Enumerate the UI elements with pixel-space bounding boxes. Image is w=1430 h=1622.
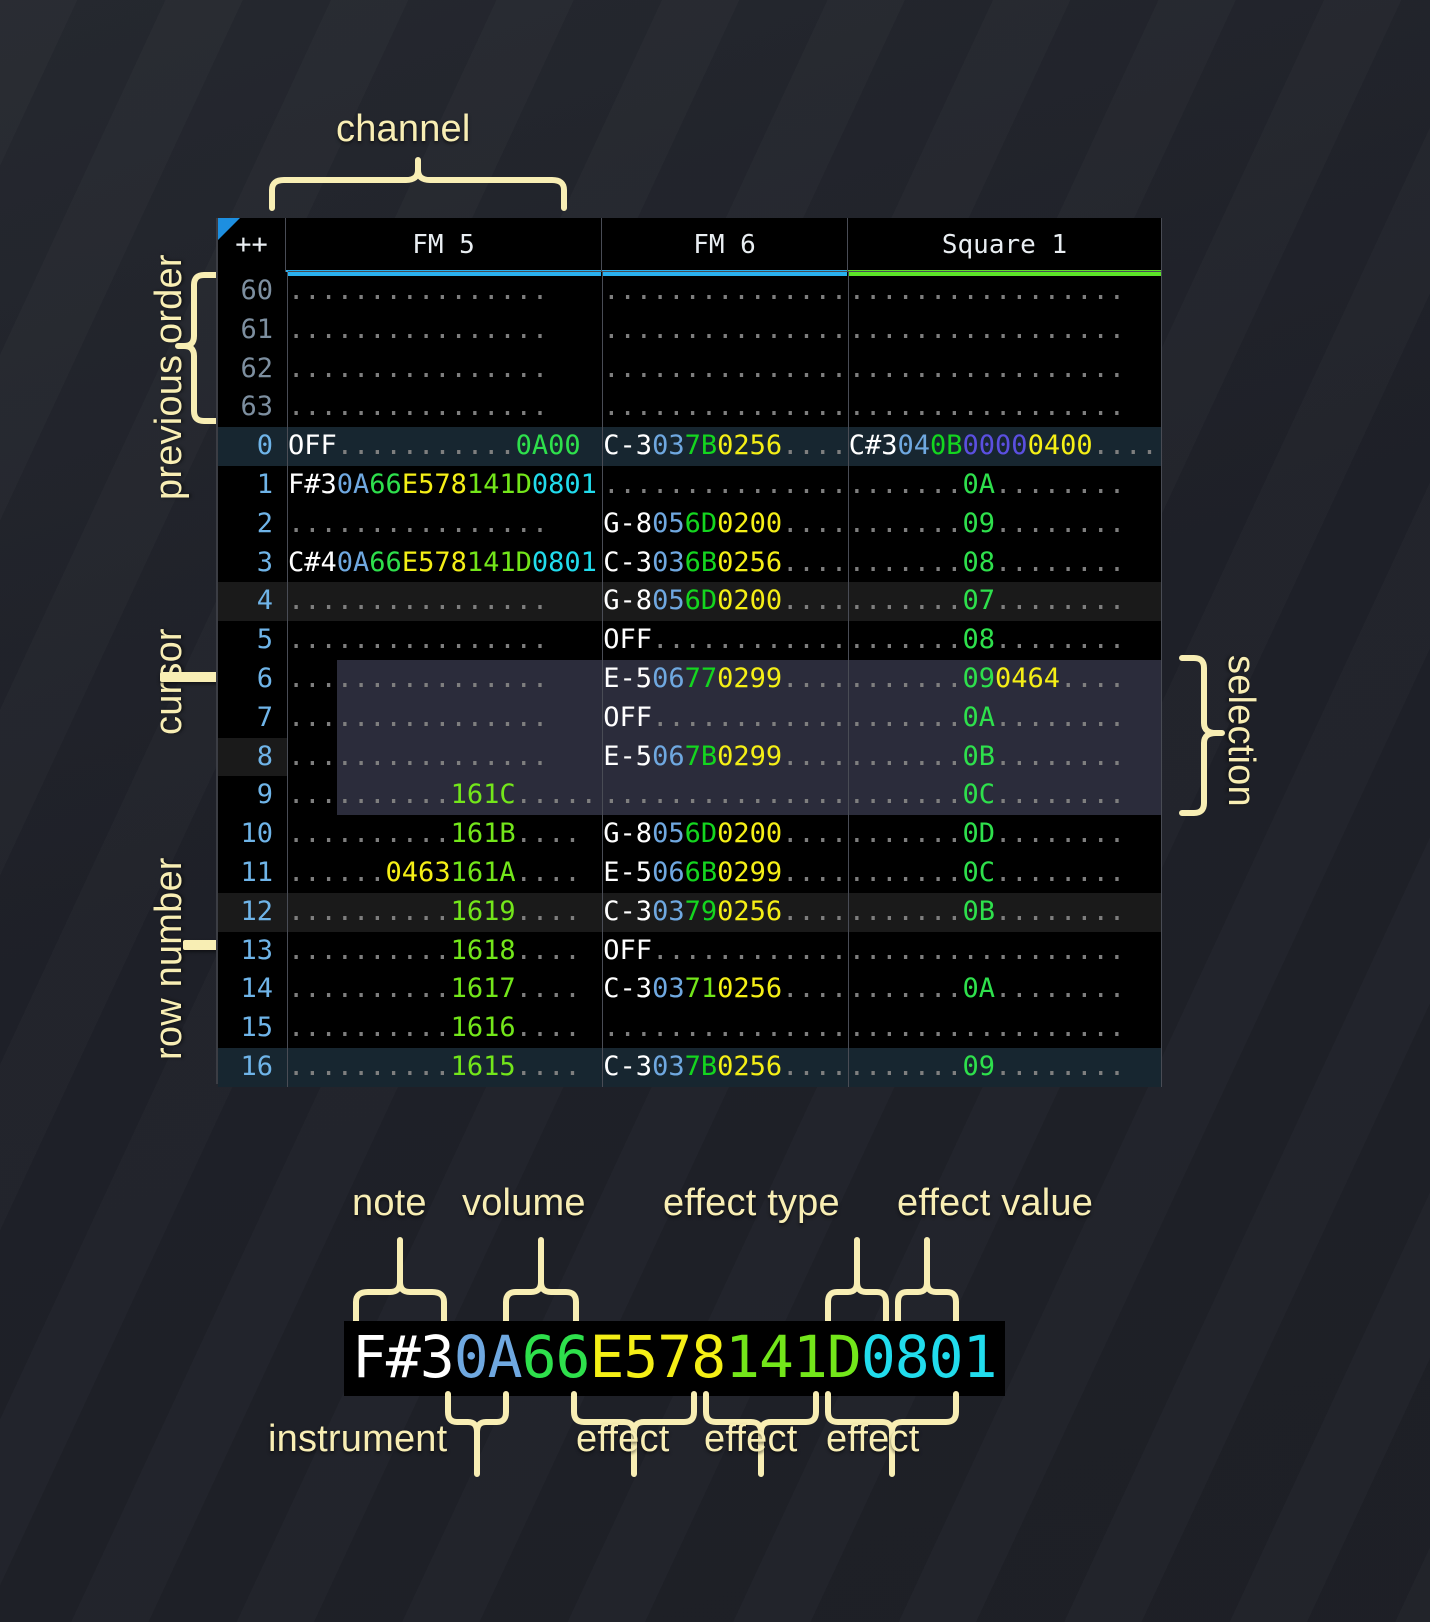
cell-segment: ........	[995, 779, 1125, 810]
cell-segment: 03	[652, 896, 685, 927]
annotation-effect-value: effect value	[897, 1182, 1093, 1225]
cell-segment: ....	[782, 896, 847, 927]
cell-segment: 1617	[451, 973, 516, 1004]
cell-segment: ........	[995, 624, 1125, 655]
pattern-cell[interactable]: .......090464....	[849, 660, 1162, 699]
pattern-cell[interactable]: G-8056D0200....	[603, 505, 848, 544]
cell-segment: 09	[963, 508, 996, 539]
cell-segment: 06	[652, 663, 685, 694]
cell-segment: .......	[849, 702, 963, 733]
order-marker-icon	[218, 218, 240, 240]
cell-segment: ....	[516, 935, 581, 966]
pattern-row[interactable]: 8................E-5067B0299...........0…	[218, 738, 1162, 777]
pattern-cell[interactable]: .......0B........	[849, 738, 1162, 777]
cell-segment: 1619	[451, 896, 516, 927]
pattern-cell[interactable]: OFF...........0A00	[288, 427, 603, 466]
pattern-cell[interactable]: F#30A66E578141D0801	[288, 466, 603, 505]
cell-segment: C-3	[603, 547, 652, 578]
pattern-cell[interactable]: ................	[288, 582, 603, 621]
cell-segment: E-5	[603, 857, 652, 888]
pattern-cell[interactable]: .......07........	[849, 582, 1162, 621]
cell-segment: 0256	[717, 973, 782, 1004]
cell-segment: 08	[963, 547, 996, 578]
cell-segment: .......	[849, 779, 963, 810]
pattern-header: ++ FM 5FM 6Square 1	[218, 218, 1162, 272]
cell-segment: .......	[849, 585, 963, 616]
cell-segment: ................	[288, 585, 548, 616]
pattern-cell[interactable]: .................	[849, 311, 1162, 350]
pattern-row[interactable]: 2................G-8056D0200...........0…	[218, 505, 1162, 544]
cell-segment: ..........	[288, 896, 451, 927]
cell-segment: 0B	[930, 430, 963, 461]
cell-segment: ....	[516, 896, 581, 927]
pattern-cell[interactable]: C-3037B0256....	[603, 1048, 848, 1087]
cell-segment: ................	[603, 314, 848, 345]
cell-segment: C#3	[849, 430, 898, 461]
cell-segment: .................	[849, 353, 1125, 384]
row-number: 13	[218, 932, 288, 971]
pattern-cell[interactable]: C-303710256....	[603, 970, 848, 1009]
cell-segment: .......	[849, 469, 963, 500]
row-number: 9	[218, 776, 288, 815]
cell-segment: 6B	[685, 857, 718, 888]
cell-segment: ........	[995, 973, 1125, 1004]
brace-volume	[502, 1240, 580, 1324]
annotation-effect-2: effect	[704, 1418, 797, 1461]
row-number: 12	[218, 893, 288, 932]
cell-segment: ................	[603, 275, 848, 306]
pattern-row[interactable]: 60......................................…	[218, 272, 1162, 311]
cell-segment: 0801	[532, 469, 597, 500]
cell-segment: .................	[849, 391, 1125, 422]
cell-segment: ........	[995, 508, 1125, 539]
cell-segment: 0C	[963, 857, 996, 888]
cell-segment: 03	[652, 1051, 685, 1082]
pattern-row[interactable]: 5................OFF....................…	[218, 621, 1162, 660]
cell-segment: 66	[369, 547, 402, 578]
pattern-cell[interactable]: .................	[849, 272, 1162, 311]
cell-segment: G-8	[603, 508, 652, 539]
cell-segment: 1618	[451, 935, 516, 966]
row-number: 14	[218, 970, 288, 1009]
cell-segment: ........	[995, 547, 1125, 578]
pattern-row[interactable]: 16..........1615....C-3037B0256.........…	[218, 1048, 1162, 1087]
pattern-cell[interactable]: OFF.............	[603, 699, 848, 738]
cell-segment: OFF	[603, 702, 652, 733]
pattern-cell[interactable]: .................	[849, 932, 1162, 971]
cell-segment: 0000	[963, 430, 1028, 461]
cell-segment: .................	[849, 275, 1125, 306]
cell-segment: ....	[782, 547, 847, 578]
row-number: 63	[218, 388, 288, 427]
cell-segment: ....	[782, 973, 847, 1004]
row-number: 5	[218, 621, 288, 660]
pattern-cell[interactable]: E-506770299....	[603, 660, 848, 699]
legend-segment: F#3	[352, 1323, 454, 1391]
row-number: 1	[218, 466, 288, 505]
annotation-volume: volume	[462, 1182, 586, 1225]
row-number: 4	[218, 582, 288, 621]
cell-segment: OFF	[288, 430, 337, 461]
cell-segment: 6B	[685, 547, 718, 578]
cell-segment: 06	[652, 741, 685, 772]
legend-segment: 0A	[454, 1323, 522, 1391]
pattern-row[interactable]: 62......................................…	[218, 350, 1162, 389]
row-number: 0	[218, 427, 288, 466]
pattern-cell[interactable]: ................	[603, 776, 848, 815]
row-number: 8	[218, 738, 288, 777]
pattern-cell[interactable]: .......09........	[849, 1048, 1162, 1087]
pattern-row[interactable]: 13..........1618....OFF.................…	[218, 932, 1162, 971]
pattern-row[interactable]: 6................E-506770299...........0…	[218, 660, 1162, 699]
row-number: 11	[218, 854, 288, 893]
pattern-editor[interactable]: ++ FM 5FM 6Square 1 60..................…	[216, 218, 1162, 1084]
cell-segment: 6D	[685, 818, 718, 849]
pattern-cell[interactable]: ................	[288, 272, 603, 311]
pattern-cell[interactable]: ................	[288, 388, 603, 427]
cell-segment: OFF	[603, 935, 652, 966]
cell-segment: 0A	[337, 547, 370, 578]
cell-segment: 0D	[963, 818, 996, 849]
cell-segment: 0299	[717, 663, 782, 694]
pattern-cell[interactable]: ..........1619....	[288, 893, 603, 932]
pattern-cell[interactable]: ................	[603, 311, 848, 350]
cell-segment: 09	[963, 663, 996, 694]
cell-segment: 0256	[717, 547, 782, 578]
cell-segment: OFF	[603, 624, 652, 655]
cell-segment: 6D	[685, 508, 718, 539]
pattern-row[interactable]: 63......................................…	[218, 388, 1162, 427]
brace-note	[352, 1240, 448, 1324]
pattern-cell[interactable]: ..........161C.....	[288, 776, 603, 815]
pattern-row[interactable]: 7................OFF....................…	[218, 699, 1162, 738]
cell-segment: C-3	[603, 430, 652, 461]
cell-segment: 7B	[685, 430, 718, 461]
cell-segment: 0B	[963, 741, 996, 772]
pattern-cell[interactable]: .......09........	[849, 505, 1162, 544]
cell-segment: ....	[782, 430, 847, 461]
channel-header-2[interactable]: FM 6	[602, 218, 848, 272]
cell-segment: ........	[995, 741, 1125, 772]
row-number: 60	[218, 272, 288, 311]
pattern-cell[interactable]: OFF.............	[603, 621, 848, 660]
cell-segment: ...........	[337, 430, 516, 461]
legend-segment: E578	[589, 1323, 725, 1391]
pattern-row[interactable]: 11......0463161A....E-5066B0299.........…	[218, 854, 1162, 893]
cell-segment: .............	[652, 702, 849, 733]
cell-segment: E-5	[603, 741, 652, 772]
cell-segment: 161B	[451, 818, 516, 849]
cell-segment: .......	[288, 779, 402, 810]
pattern-cell[interactable]: .................	[849, 1009, 1162, 1048]
annotation-instrument: instrument	[268, 1418, 447, 1461]
cell-segment: 141D	[467, 469, 532, 500]
cell-segment: 0C	[963, 779, 996, 810]
cell-segment: ................	[603, 779, 848, 810]
pattern-cell[interactable]: .......0A........	[849, 699, 1162, 738]
cell-segment: 05	[652, 818, 685, 849]
cell-segment: .................	[849, 1012, 1125, 1043]
pattern-cell[interactable]: ................	[288, 621, 603, 660]
cell-segment: 1616	[451, 1012, 516, 1043]
row-number: 6	[218, 660, 288, 699]
cell-segment: ....	[516, 857, 581, 888]
pattern-cell[interactable]: .......0B........	[849, 893, 1162, 932]
pattern-cell[interactable]: .......0C........	[849, 854, 1162, 893]
pattern-cell[interactable]: ................	[288, 350, 603, 389]
cell-segment: 0400	[1028, 430, 1093, 461]
channel-header-3[interactable]: Square 1	[848, 218, 1162, 272]
cell-segment: .......	[849, 741, 963, 772]
cell-segment: ........	[995, 818, 1125, 849]
cell-segment: 0A	[963, 469, 996, 500]
cell-segment: 03	[652, 430, 685, 461]
annotation-row-number: row number	[148, 857, 191, 1060]
pattern-row[interactable]: 12..........1619....C-303790256.........…	[218, 893, 1162, 932]
cell-segment: .............	[652, 624, 849, 655]
annotation-effect-type: effect type	[663, 1182, 840, 1225]
pattern-cell[interactable]: C#40A66E578141D0801	[288, 544, 603, 583]
cell-segment: ....	[782, 1051, 847, 1082]
pattern-cell[interactable]: E-5067B0299....	[603, 738, 848, 777]
pattern-row[interactable]: 1F#30A66E578141D0801....................…	[218, 466, 1162, 505]
cell-segment: 7B	[685, 1051, 718, 1082]
cell-segment: .................	[849, 314, 1125, 345]
pattern-cell[interactable]: C-3036B0256....	[603, 544, 848, 583]
cell-segment: 0A	[963, 702, 996, 733]
pattern-cell[interactable]: ..........1616....	[288, 1009, 603, 1048]
cell-segment: ..........	[288, 818, 451, 849]
pattern-row[interactable]: 3C#40A66E578141D0801C-3036B0256.........…	[218, 544, 1162, 583]
cell-segment: 03	[652, 973, 685, 1004]
cell-segment: ................	[603, 1012, 848, 1043]
cell-segment: 0463	[386, 857, 451, 888]
cell-segment: .............	[652, 935, 849, 966]
cell-segment: .......	[849, 508, 963, 539]
brace-selection	[1178, 655, 1226, 817]
cell-segment: ................	[288, 391, 548, 422]
cell-segment: ......	[288, 857, 386, 888]
brace-effect-type	[824, 1240, 890, 1324]
pattern-cell[interactable]: .......08........	[849, 544, 1162, 583]
pattern-cell[interactable]: ................	[288, 738, 603, 777]
pattern-cell[interactable]: ................	[288, 699, 603, 738]
brace-instrument	[444, 1392, 510, 1476]
diagram-root: channel previous order cursor row number…	[0, 0, 1430, 1622]
cell-segment: ....	[1093, 430, 1158, 461]
cell-segment: G-8	[603, 818, 652, 849]
pattern-cell[interactable]: ................	[603, 1009, 848, 1048]
annotation-channel: channel	[336, 108, 471, 151]
cell-segment: 0299	[717, 857, 782, 888]
row-number: 7	[218, 699, 288, 738]
cell-segment: ....	[516, 1051, 581, 1082]
cell-segment: 0A	[337, 469, 370, 500]
cell-segment: ....	[782, 508, 847, 539]
cell-segment: 0299	[717, 741, 782, 772]
cell-segment: C#4	[288, 547, 337, 578]
legend-segment: 141D	[725, 1323, 861, 1391]
cell-segment: ................	[288, 624, 548, 655]
cell-segment: 66	[369, 469, 402, 500]
cell-segment: 05	[652, 508, 685, 539]
channel-name: FM 5	[412, 230, 475, 260]
channel-header-1[interactable]: FM 5	[286, 218, 602, 272]
cell-segment: 0200	[717, 508, 782, 539]
cell-segment: ................	[288, 508, 548, 539]
cell-segment: E-5	[603, 663, 652, 694]
cell-segment: .....	[516, 779, 597, 810]
cell-segment: ................	[603, 469, 848, 500]
pattern-cell[interactable]: ................	[603, 350, 848, 389]
annotation-note: note	[352, 1182, 427, 1225]
cell-segment: .......	[849, 1051, 963, 1082]
cell-segment: ....	[516, 1012, 581, 1043]
cell-segment: ................	[288, 353, 548, 384]
cell-segment: F#3	[288, 469, 337, 500]
pattern-cell[interactable]: E-5066B0299....	[603, 854, 848, 893]
annotation-effect-3: effect	[826, 1418, 919, 1461]
cell-segment: 05	[652, 585, 685, 616]
cell-segment: 161C	[451, 779, 516, 810]
pattern-cell[interactable]: .................	[849, 388, 1162, 427]
cell-segment: 0464	[995, 663, 1060, 694]
row-legend: F#30A66E578141D0801	[344, 1321, 1005, 1396]
pattern-cell[interactable]: ................	[288, 505, 603, 544]
cell-segment: C-3	[603, 896, 652, 927]
cell-segment: .......	[849, 818, 963, 849]
legend-segment: 66	[522, 1323, 590, 1391]
cell-segment: .......	[849, 857, 963, 888]
pattern-cell[interactable]: ..........1618....	[288, 932, 603, 971]
cell-segment: 03	[652, 547, 685, 578]
pattern-cell[interactable]: ................	[288, 311, 603, 350]
cell-segment: ....	[782, 741, 847, 772]
pattern-cell[interactable]: .......0D........	[849, 815, 1162, 854]
cell-segment: E578	[402, 469, 467, 500]
pattern-cell[interactable]: G-8056D0200....	[603, 815, 848, 854]
channel-name: FM 6	[693, 230, 756, 260]
cell-segment: ....	[516, 818, 581, 849]
cell-segment: ....	[1060, 663, 1125, 694]
cell-segment: ................	[288, 702, 548, 733]
pattern-cell[interactable]: ................	[603, 272, 848, 311]
pattern-cell[interactable]: ................	[603, 466, 848, 505]
pattern-cell[interactable]: .......0A........	[849, 466, 1162, 505]
cell-segment: 141D	[467, 547, 532, 578]
cell-segment: .......	[849, 663, 963, 694]
legend-segment: 0801	[861, 1323, 997, 1391]
cell-segment: .......	[849, 547, 963, 578]
pattern-cell[interactable]: .......0C........	[849, 776, 1162, 815]
cell-segment: ..........	[288, 1051, 451, 1082]
cell-segment: ........	[995, 585, 1125, 616]
pattern-cell[interactable]: ................	[603, 388, 848, 427]
pattern-row[interactable]: 14..........1617....C-303710256.........…	[218, 970, 1162, 1009]
brace-channel	[268, 160, 568, 212]
cell-segment: 79	[685, 896, 718, 927]
pattern-row[interactable]: 0OFF...........0A00C-3037B0256....C#3040…	[218, 427, 1162, 466]
pattern-cell[interactable]: ..........1615....	[288, 1048, 603, 1087]
pattern-cell[interactable]: ..........161B....	[288, 815, 603, 854]
cell-segment: 0200	[717, 818, 782, 849]
cell-segment: ........	[995, 469, 1125, 500]
cell-segment: 0256	[717, 1051, 782, 1082]
channel-headers: FM 5FM 6Square 1	[286, 218, 1162, 272]
annotation-effect-1: effect	[576, 1418, 669, 1461]
pattern-row[interactable]: 10..........161B....G-8056D0200.........…	[218, 815, 1162, 854]
cell-segment: ....	[516, 973, 581, 1004]
row-number: 3	[218, 544, 288, 583]
pattern-cell[interactable]: .......0A........	[849, 970, 1162, 1009]
cell-segment: ........	[995, 896, 1125, 927]
pattern-cell[interactable]: ......0463161A....	[288, 854, 603, 893]
cell-segment: .......	[849, 624, 963, 655]
cell-segment: 77	[685, 663, 718, 694]
brace-effect-value	[894, 1240, 960, 1324]
cell-segment: ..........	[288, 1012, 451, 1043]
row-number: 10	[218, 815, 288, 854]
cell-segment: ........	[995, 1051, 1125, 1082]
row-number: 16	[218, 1048, 288, 1087]
pattern-cell[interactable]: .......08........	[849, 621, 1162, 660]
pattern-rows[interactable]: 60......................................…	[218, 272, 1162, 1087]
pattern-row[interactable]: 15..........1616........................…	[218, 1009, 1162, 1048]
pattern-row[interactable]: 9..........161C.........................…	[218, 776, 1162, 815]
pattern-cell[interactable]: C-303790256....	[603, 893, 848, 932]
cell-segment: ....	[782, 818, 847, 849]
pattern-cell[interactable]: ..........1617....	[288, 970, 603, 1009]
pattern-row[interactable]: 61......................................…	[218, 311, 1162, 350]
pattern-cell[interactable]: G-8056D0200....	[603, 582, 848, 621]
cell-segment: ........	[995, 702, 1125, 733]
cell-segment: ...	[402, 779, 451, 810]
cell-segment: C-3	[603, 973, 652, 1004]
pattern-cell[interactable]: .................	[849, 350, 1162, 389]
cell-segment: 0801	[532, 547, 597, 578]
pattern-cell[interactable]: C-3037B0256....	[603, 427, 848, 466]
cell-segment: ..........	[288, 973, 451, 1004]
row-number: 62	[218, 350, 288, 389]
cell-segment: 0200	[717, 585, 782, 616]
cell-segment: 0A	[963, 973, 996, 1004]
pattern-row[interactable]: 4................G-8056D0200...........0…	[218, 582, 1162, 621]
cell-segment: 04	[898, 430, 931, 461]
cell-segment: 0A00	[516, 430, 581, 461]
pattern-cell[interactable]: OFF.............	[603, 932, 848, 971]
pattern-cell[interactable]: ................	[288, 660, 603, 699]
cell-segment: .................	[849, 935, 1125, 966]
row-number: 15	[218, 1009, 288, 1048]
cell-segment: 6D	[685, 585, 718, 616]
cell-segment: 08	[963, 624, 996, 655]
pattern-cell[interactable]: C#3040B00000400....	[849, 427, 1162, 466]
cell-segment: ................	[288, 741, 548, 772]
cell-segment: 0256	[717, 430, 782, 461]
cell-segment: ................	[288, 275, 548, 306]
row-number: 61	[218, 311, 288, 350]
cell-segment: 161A	[451, 857, 516, 888]
cell-segment: ..........	[288, 935, 451, 966]
cell-segment: 07	[963, 585, 996, 616]
channel-name: Square 1	[942, 230, 1067, 260]
cell-segment: ................	[288, 314, 548, 345]
cell-segment: ....	[782, 857, 847, 888]
cell-segment: E578	[402, 547, 467, 578]
cell-segment: .......	[849, 973, 963, 1004]
cell-segment: ....	[782, 663, 847, 694]
cell-segment: ................	[288, 663, 548, 694]
